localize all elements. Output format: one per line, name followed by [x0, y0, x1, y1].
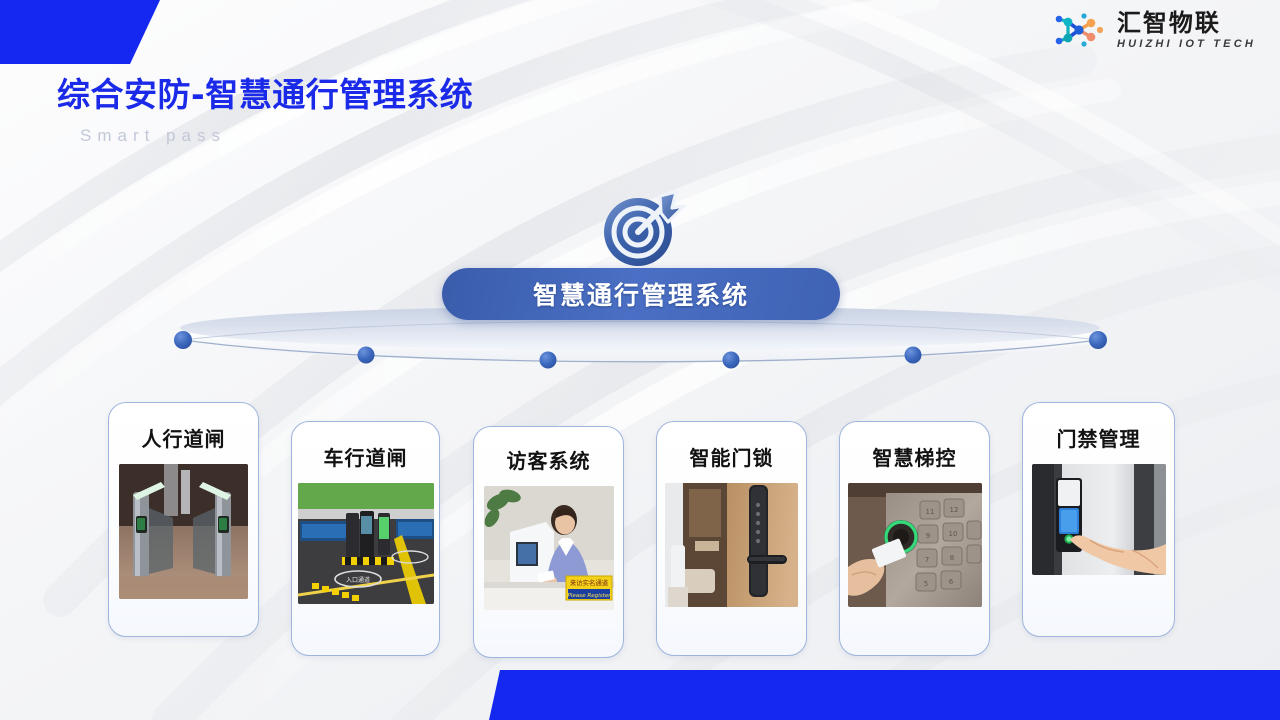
svg-text:6: 6 [948, 578, 953, 586]
page-header: 综合安防-智慧通行管理系统 Smart pass [57, 68, 473, 146]
access-control-terminal-photo [1032, 464, 1166, 575]
feature-card-visitor-system[interactable]: 访客系统 [473, 426, 624, 658]
svg-text:来访实名通道: 来访实名通道 [569, 578, 608, 587]
svg-text:12: 12 [949, 506, 958, 514]
brand-logo: 汇智物联 HUIZHI IOT TECH [1053, 10, 1256, 50]
vehicle-barrier-gate-photo: 入口通道 [298, 483, 434, 604]
feature-card-vehicle-barrier[interactable]: 车行道闸 [291, 421, 440, 656]
brand-name-en: HUIZHI IOT TECH [1117, 39, 1256, 50]
pedestrian-turnstile-photo [119, 464, 248, 599]
feature-card-access-control[interactable]: 门禁管理 [1022, 402, 1175, 637]
svg-text:5: 5 [923, 580, 927, 588]
feature-card-elevator-control[interactable]: 智慧梯控 [839, 421, 990, 656]
brand-name-cn: 汇智物联 [1117, 11, 1256, 35]
card-title: 智能门锁 [690, 442, 774, 471]
svg-text:入口通道: 入口通道 [345, 576, 369, 584]
svg-text:Please Register: Please Register [567, 593, 611, 599]
page-subtitle: Smart pass [80, 126, 473, 146]
feature-card-pedestrian-turnstile[interactable]: 人行道闸 [108, 402, 259, 637]
svg-text:11: 11 [925, 508, 934, 516]
card-title: 访客系统 [507, 445, 591, 474]
visitor-reception-photo: 来访实名通道 Please Register [484, 486, 614, 610]
svg-text:8: 8 [949, 554, 953, 562]
system-title-banner: 智慧通行管理系统 [442, 268, 840, 320]
page-title: 综合安防-智慧通行管理系统 [57, 68, 473, 116]
card-title: 门禁管理 [1057, 423, 1141, 452]
elevator-card-reader-photo: 1112 910 78 56 [848, 483, 982, 607]
brand-logo-text: 汇智物联 HUIZHI IOT TECH [1117, 11, 1256, 50]
svg-text:7: 7 [924, 556, 928, 564]
feature-card-smart-door-lock[interactable]: 智能门锁 [656, 421, 807, 656]
card-title: 车行道闸 [324, 442, 408, 471]
svg-text:10: 10 [948, 530, 957, 538]
system-title-label: 智慧通行管理系统 [533, 276, 749, 312]
smart-door-lock-photo [665, 483, 798, 607]
card-title: 智慧梯控 [873, 442, 957, 471]
molecule-network-icon [1053, 10, 1109, 50]
svg-text:9: 9 [925, 532, 929, 540]
card-title: 人行道闸 [142, 423, 226, 452]
